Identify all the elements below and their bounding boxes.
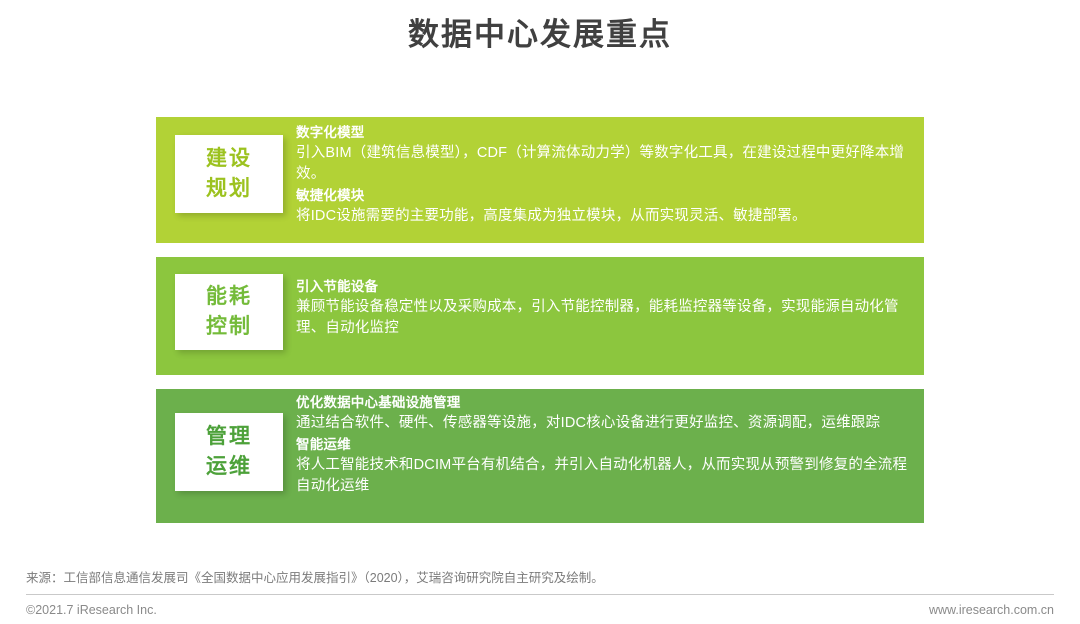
item-heading: 优化数据中心基础设施管理 bbox=[296, 393, 910, 413]
item-text: 兼顾节能设备稳定性以及采购成本，引入节能控制器，能耗监控器等设备，实现能源自动化… bbox=[296, 297, 910, 339]
item-heading: 数字化模型 bbox=[296, 123, 910, 143]
topic-label-line-1: 建设 bbox=[206, 144, 252, 174]
topic-label-line-1: 管理 bbox=[206, 422, 252, 452]
topic-item: 数字化模型 引入BIM（建筑信息模型），CDF（计算流体动力学）等数字化工具，在… bbox=[296, 123, 910, 185]
blocks-container: 建设 规划 数字化模型 引入BIM（建筑信息模型），CDF（计算流体动力学）等数… bbox=[156, 117, 924, 537]
footer: 来源：工信部信息通信发展司《全国数据中心应用发展指引》（2020），艾瑞咨询研究… bbox=[26, 560, 1054, 624]
topic-block-energy-control: 能耗 控制 引入节能设备 兼顾节能设备稳定性以及采购成本，引入节能控制器，能耗监… bbox=[156, 257, 924, 375]
item-heading: 引入节能设备 bbox=[296, 277, 910, 297]
topic-label-card: 建设 规划 bbox=[175, 135, 283, 213]
footer-source-note: 来源：工信部信息通信发展司《全国数据中心应用发展指引》（2020），艾瑞咨询研究… bbox=[26, 569, 604, 587]
footer-divider bbox=[26, 594, 1054, 595]
footer-website-url: www.iresearch.com.cn bbox=[929, 601, 1054, 619]
item-text: 通过结合软件、硬件、传感器等设施，对IDC核心设备进行更好监控、资源调配，运维跟… bbox=[296, 413, 910, 434]
topic-label-card: 能耗 控制 bbox=[175, 274, 283, 350]
footer-copyright: ©2021.7 iResearch Inc. bbox=[26, 601, 157, 619]
topic-item: 智能运维 将人工智能技术和DCIM平台有机结合，并引入自动化机器人，从而实现从预… bbox=[296, 435, 910, 497]
topic-label-line-2: 控制 bbox=[206, 312, 252, 342]
topic-block-management-ops: 管理 运维 优化数据中心基础设施管理 通过结合软件、硬件、传感器等设施，对IDC… bbox=[156, 389, 924, 523]
topic-block-construction-planning: 建设 规划 数字化模型 引入BIM（建筑信息模型），CDF（计算流体动力学）等数… bbox=[156, 117, 924, 243]
topic-item: 敏捷化模块 将IDC设施需要的主要功能，高度集成为独立模块，从而实现灵活、敏捷部… bbox=[296, 186, 910, 227]
topic-label-line-2: 规划 bbox=[206, 174, 252, 204]
page-title: 数据中心发展重点 bbox=[0, 14, 1080, 56]
item-text: 将IDC设施需要的主要功能，高度集成为独立模块，从而实现灵活、敏捷部署。 bbox=[296, 206, 910, 227]
topic-label-line-1: 能耗 bbox=[206, 282, 252, 312]
topic-body: 优化数据中心基础设施管理 通过结合软件、硬件、传感器等设施，对IDC核心设备进行… bbox=[296, 393, 910, 497]
item-heading: 智能运维 bbox=[296, 435, 910, 455]
item-text: 引入BIM（建筑信息模型），CDF（计算流体动力学）等数字化工具，在建设过程中更… bbox=[296, 143, 910, 185]
item-text: 将人工智能技术和DCIM平台有机结合，并引入自动化机器人，从而实现从预警到修复的… bbox=[296, 455, 910, 497]
topic-body: 引入节能设备 兼顾节能设备稳定性以及采购成本，引入节能控制器，能耗监控器等设备，… bbox=[296, 277, 910, 339]
topic-label-card: 管理 运维 bbox=[175, 413, 283, 491]
topic-item: 引入节能设备 兼顾节能设备稳定性以及采购成本，引入节能控制器，能耗监控器等设备，… bbox=[296, 277, 910, 339]
topic-label-line-2: 运维 bbox=[206, 452, 252, 482]
topic-body: 数字化模型 引入BIM（建筑信息模型），CDF（计算流体动力学）等数字化工具，在… bbox=[296, 123, 910, 227]
topic-item: 优化数据中心基础设施管理 通过结合软件、硬件、传感器等设施，对IDC核心设备进行… bbox=[296, 393, 910, 434]
item-heading: 敏捷化模块 bbox=[296, 186, 910, 206]
